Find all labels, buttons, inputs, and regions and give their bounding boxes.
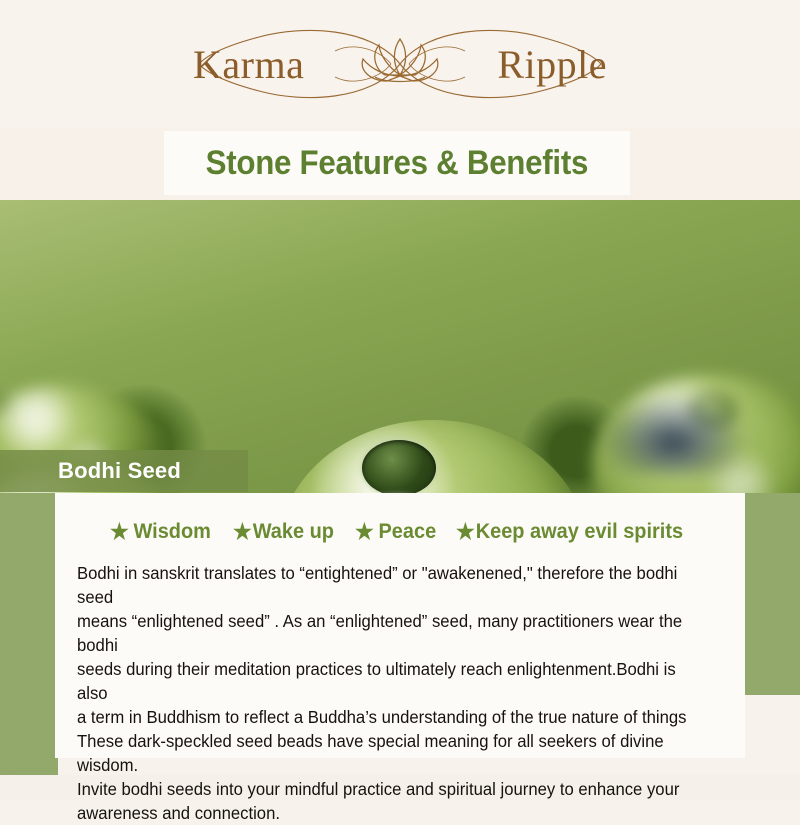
feature-item: ★Keep away evil spirits <box>456 520 683 544</box>
body-line: These dark-speckled seed beads have spec… <box>77 729 708 777</box>
feature-item: ★Wisdom <box>110 520 211 544</box>
feature-item: ★Peace <box>355 520 436 544</box>
brand-logo-wrap: Karma Ripple <box>185 21 615 107</box>
photo-caption-label: Bodhi Seed <box>0 458 181 484</box>
body-line: means “enlightened seed” . As an “enligh… <box>77 609 708 657</box>
star-icon: ★ <box>110 521 129 543</box>
brand-wordmark: Karma Ripple <box>185 21 615 107</box>
title-panel: Stone Features & Benefits <box>164 131 630 195</box>
photo-caption-banner: Bodhi Seed <box>0 450 248 492</box>
bodhi-seed-photo <box>0 198 800 493</box>
star-icon: ★ <box>233 521 252 543</box>
body-line: awareness and connection. <box>77 801 708 825</box>
brand-word-ripple: Ripple <box>497 41 615 88</box>
brand-word-karma: Karma <box>185 41 304 88</box>
star-icon: ★ <box>355 521 374 543</box>
star-icon: ★ <box>456 521 475 543</box>
features-row: ★Wisdom★Wake up★Peace★Keep away evil spi… <box>55 515 745 549</box>
feature-item: ★Wake up <box>233 520 334 544</box>
feature-label: Keep away evil spirits <box>476 520 683 544</box>
feature-label: Wake up <box>252 520 333 544</box>
page-title: Stone Features & Benefits <box>206 144 588 183</box>
body-line: seeds during their meditation practices … <box>77 657 708 705</box>
photo-shadow-top-right <box>598 396 748 474</box>
bead-hero <box>278 420 588 493</box>
brand-logo: Karma Ripple <box>0 0 800 128</box>
feature-label: Wisdom <box>134 520 211 544</box>
body-text: Bodhi in sanskrit translates to “entight… <box>77 561 708 825</box>
feature-label: Peace <box>379 520 437 544</box>
body-line: Bodhi in sanskrit translates to “entight… <box>77 561 708 609</box>
body-line: Invite bodhi seeds into your mindful pra… <box>77 777 708 801</box>
body-line: a term in Buddhism to reflect a Buddha’s… <box>77 705 708 729</box>
content-panel: ★Wisdom★Wake up★Peace★Keep away evil spi… <box>55 493 745 758</box>
